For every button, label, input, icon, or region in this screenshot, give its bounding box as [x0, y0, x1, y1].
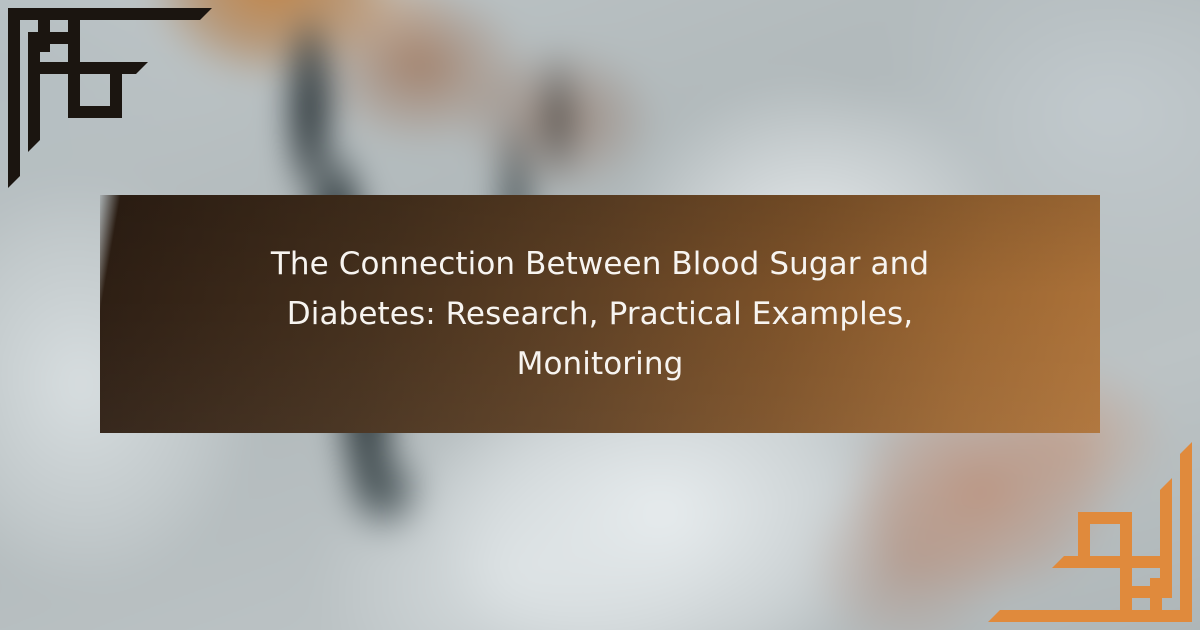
- page-title: The Connection Between Blood Sugar and D…: [151, 239, 1049, 389]
- share-card-canvas: The Connection Between Blood Sugar and D…: [0, 0, 1200, 630]
- corner-ornament-top-left-icon: [0, 0, 230, 200]
- corner-ornament-bottom-right-icon: [970, 430, 1200, 630]
- title-overlay-band: The Connection Between Blood Sugar and D…: [100, 195, 1100, 433]
